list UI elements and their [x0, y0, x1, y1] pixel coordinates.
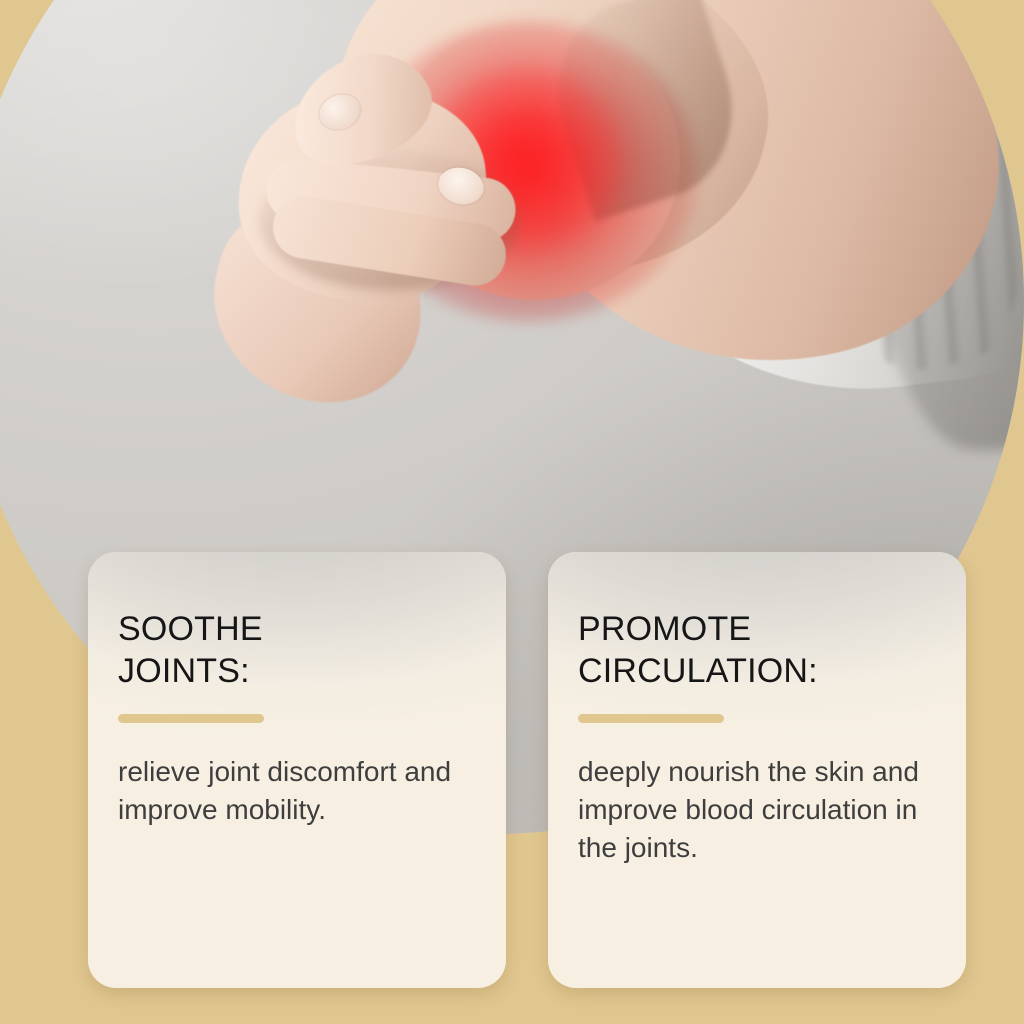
card-title: PROMOTE CIRCULATION: [578, 608, 934, 692]
card-divider [118, 714, 264, 723]
card-body-text: relieve joint discomfort and improve mob… [118, 753, 474, 829]
benefit-card-soothe-joints[interactable]: SOOTHE JOINTS: relieve joint discomfort … [88, 552, 506, 988]
card-body-text: deeply nourish the skin and improve bloo… [578, 753, 934, 867]
card-divider [578, 714, 724, 723]
benefit-poster: SOOTHE JOINTS: relieve joint discomfort … [0, 0, 1024, 1024]
card-title: SOOTHE JOINTS: [118, 608, 474, 692]
benefit-card-promote-circulation[interactable]: PROMOTE CIRCULATION: deeply nourish the … [548, 552, 966, 988]
